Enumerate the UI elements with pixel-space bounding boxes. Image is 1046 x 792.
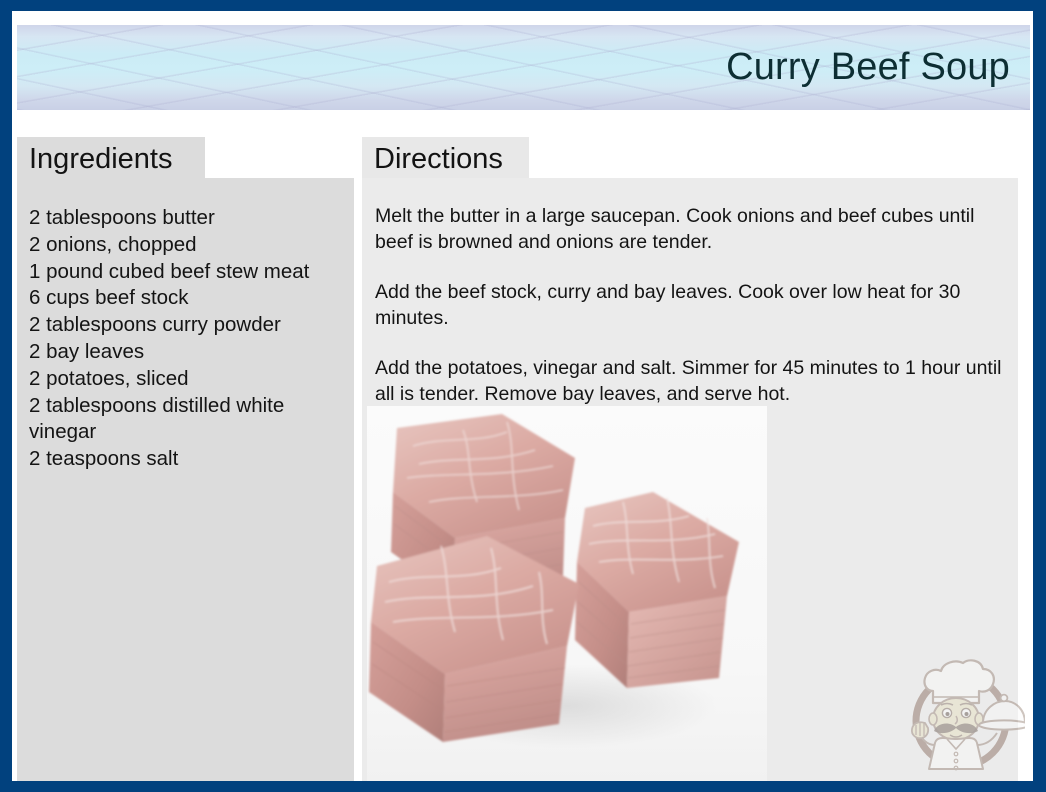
list-item: 2 potatoes, sliced [29, 366, 344, 393]
direction-step: Melt the butter in a large saucepan. Coo… [375, 204, 1006, 255]
list-item: 1 pound cubed beef stew meat [29, 259, 344, 286]
ingredients-list: 2 tablespoons butter 2 onions, chopped 1… [29, 205, 344, 473]
list-item: 6 cups beef stock [29, 285, 344, 312]
ingredients-heading: Ingredients [29, 145, 173, 174]
directions-heading: Directions [374, 145, 503, 174]
tab-ingredients[interactable]: Ingredients [17, 137, 205, 178]
list-item: 2 bay leaves [29, 339, 344, 366]
tab-directions[interactable]: Directions [362, 137, 529, 178]
list-item: 2 tablespoons butter [29, 205, 344, 232]
recipe-card-frame: Curry Beef Soup Ingredients 2 tablespoon… [0, 0, 1046, 792]
ingredients-panel: 2 tablespoons butter 2 onions, chopped 1… [17, 178, 354, 781]
direction-step: Add the beef stock, curry and bay leaves… [375, 280, 1006, 331]
direction-step: Add the potatoes, vinegar and salt. Simm… [375, 356, 1006, 407]
chef-mascot-logo [897, 651, 1025, 775]
list-item: 2 teaspoons salt [29, 446, 344, 473]
list-item: 2 onions, chopped [29, 232, 344, 259]
recipe-sheet: Curry Beef Soup Ingredients 2 tablespoon… [12, 11, 1033, 781]
list-item: 2 tablespoons distilled white vinegar [29, 393, 344, 447]
list-item: 2 tablespoons curry powder [29, 312, 344, 339]
title-banner: Curry Beef Soup [17, 25, 1030, 110]
raw-beef-cubes-photo [367, 406, 767, 781]
page-title: Curry Beef Soup [726, 47, 1010, 89]
